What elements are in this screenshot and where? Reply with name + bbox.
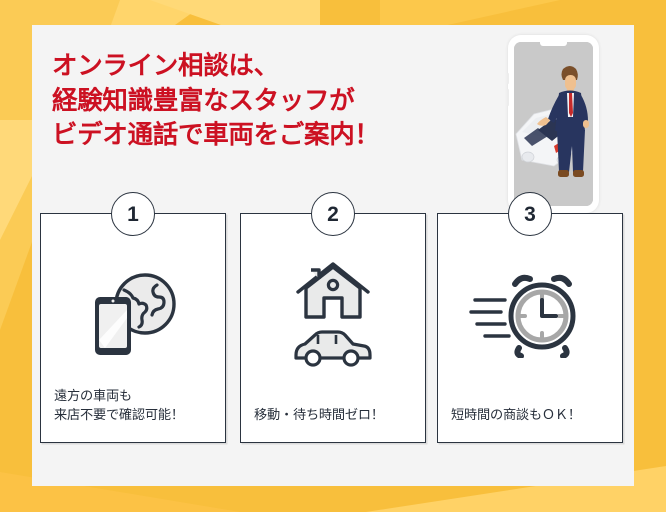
feature-card-2: 2 移動・ — [240, 213, 426, 443]
card-caption-1: 遠方の車両も 来店不要で確認可能！ — [54, 386, 215, 424]
card-caption-2: 移動・待ち時間ゼロ！ — [254, 405, 415, 424]
card-badge-2: 2 — [311, 192, 355, 236]
headline-line-2: 経験知識豊富なスタッフが — [52, 84, 482, 119]
house-icon — [298, 264, 368, 317]
headline-line-3: ビデオ通話で車両をご案内！ — [52, 118, 482, 153]
phone-notch — [540, 42, 567, 46]
card-caption-3-line-1: 短時間の商談もＯＫ！ — [451, 405, 612, 424]
card-caption-3: 短時間の商談もＯＫ！ — [451, 405, 612, 424]
phone-screen — [514, 42, 593, 206]
feature-card-3: 3 — [437, 213, 623, 443]
card-caption-2-line-1: 移動・待ち時間ゼロ！ — [254, 405, 415, 424]
feature-card-1: 1 遠方の車両も 来店不要で確認可能！ — [40, 213, 226, 443]
phone-mockup — [508, 35, 599, 213]
house-and-car-icon — [241, 248, 425, 376]
phone-volume-button-up — [507, 73, 509, 84]
card-badge-3: 3 — [508, 192, 552, 236]
phone-volume-button-down — [507, 89, 509, 106]
car-icon — [296, 332, 370, 365]
content-panel: オンライン相談は、 経験知識豊富なスタッフが ビデオ通話で車両をご案内！ — [32, 25, 634, 486]
online-consultation-banner: オンライン相談は、 経験知識豊富なスタッフが ビデオ通話で車両をご案内！ — [0, 0, 666, 512]
smartphone-globe-icon — [41, 248, 225, 376]
headline: オンライン相談は、 経験知識豊富なスタッフが ビデオ通話で車両をご案内！ — [52, 49, 482, 153]
card-caption-1-line-2: 来店不要で確認可能！ — [54, 405, 215, 424]
card-badge-1: 1 — [111, 192, 155, 236]
fast-alarm-clock-icon — [438, 248, 622, 376]
card-caption-1-line-1: 遠方の車両も — [54, 386, 215, 405]
headline-line-1: オンライン相談は、 — [52, 49, 482, 84]
speed-lines — [471, 300, 509, 336]
video-call-scene-illustration — [514, 42, 593, 206]
